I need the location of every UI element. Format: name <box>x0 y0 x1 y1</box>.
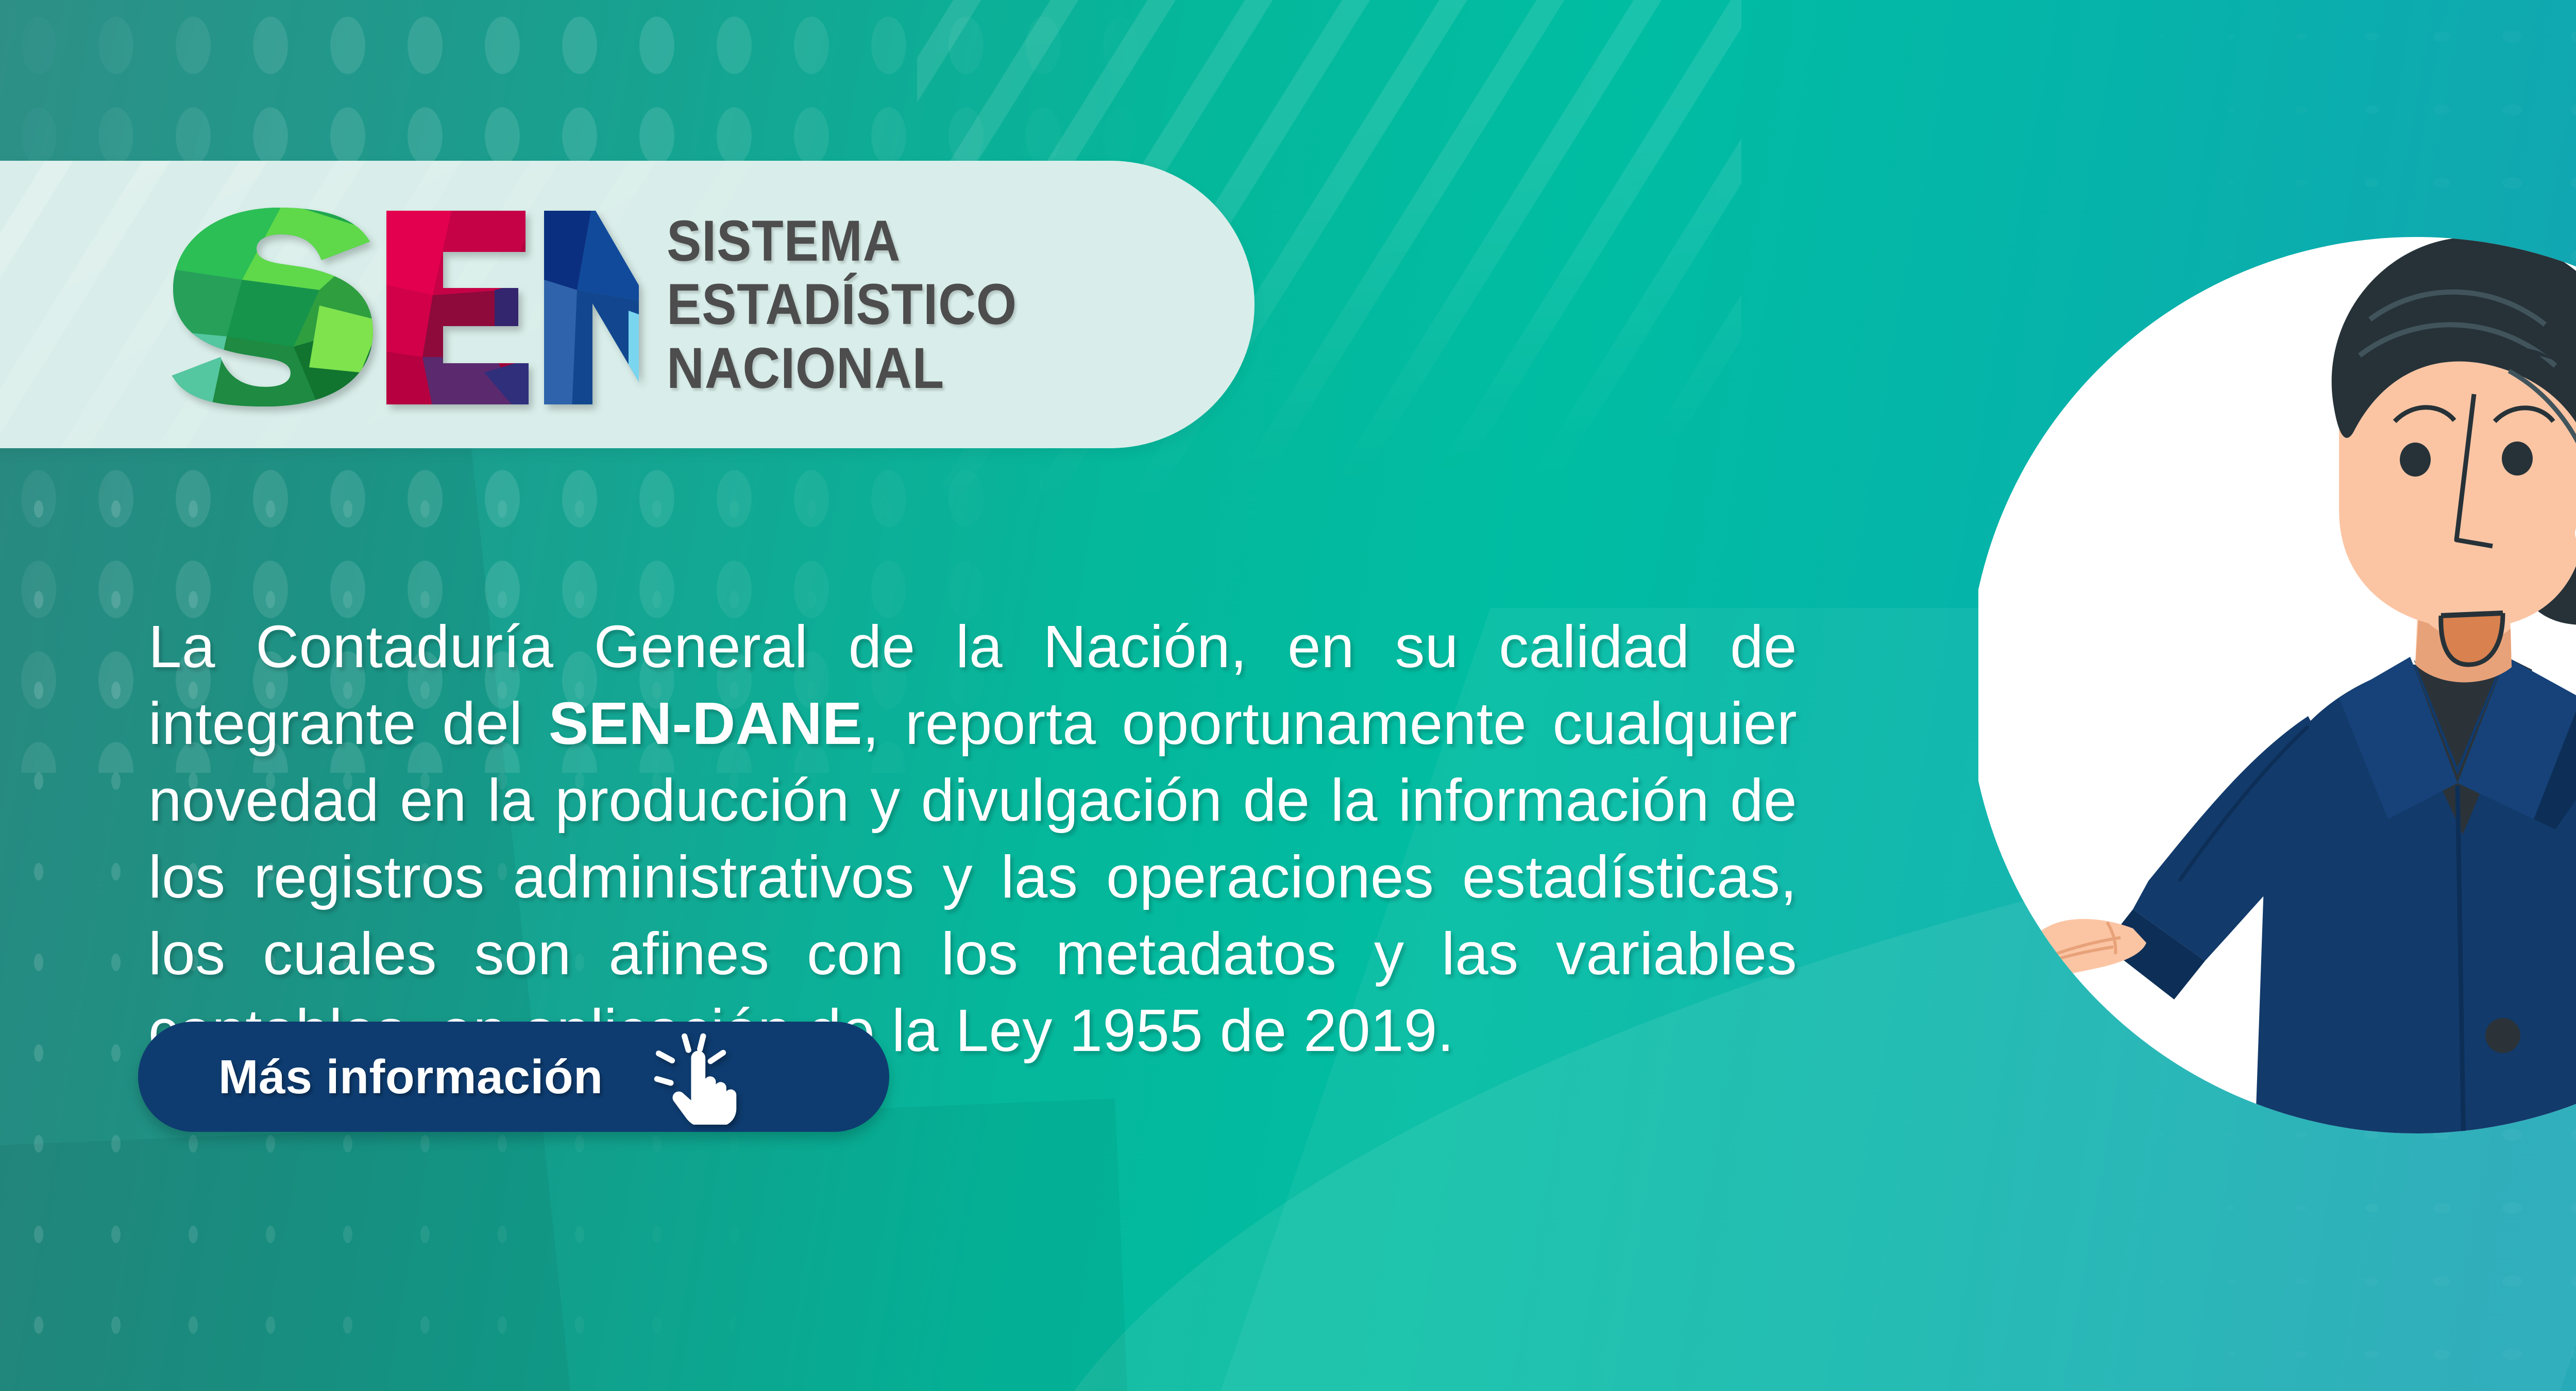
businesswoman-illustration <box>1978 149 2576 1391</box>
mouth-upper-line <box>2441 613 2503 616</box>
sen-wordmark: SISTEMA ESTADÍSTICO NACIONAL <box>667 209 1017 400</box>
banner-description: La Contaduría General de la Nación, en s… <box>148 608 1797 1069</box>
eye-right <box>2502 442 2533 476</box>
sen-wordmark-line-3: NACIONAL <box>667 336 1017 400</box>
sen-promo-banner: SISTEMA ESTADÍSTICO NACIONAL La Contadur… <box>0 0 2576 1391</box>
sen-logo-mark <box>165 202 639 409</box>
jacket-button-top <box>2485 1018 2520 1053</box>
jacket-button-bottom <box>2492 1142 2527 1177</box>
eye-left <box>2400 443 2431 477</box>
sen-wordmark-line-1: SISTEMA <box>667 209 1017 273</box>
sen-letter-e <box>381 202 536 409</box>
description-highlight: SEN-DANE <box>549 690 862 757</box>
sen-letter-n <box>536 202 639 409</box>
background-wave-bottom <box>0 1098 1130 1391</box>
more-information-button[interactable]: Más información <box>138 1022 889 1132</box>
sen-wordmark-line-2: ESTADÍSTICO <box>667 273 1017 336</box>
more-information-label: Más información <box>218 1049 603 1105</box>
click-hand-icon <box>649 1029 744 1125</box>
sen-letter-s <box>165 202 381 409</box>
sen-logo-panel: SISTEMA ESTADÍSTICO NACIONAL <box>0 161 1255 448</box>
